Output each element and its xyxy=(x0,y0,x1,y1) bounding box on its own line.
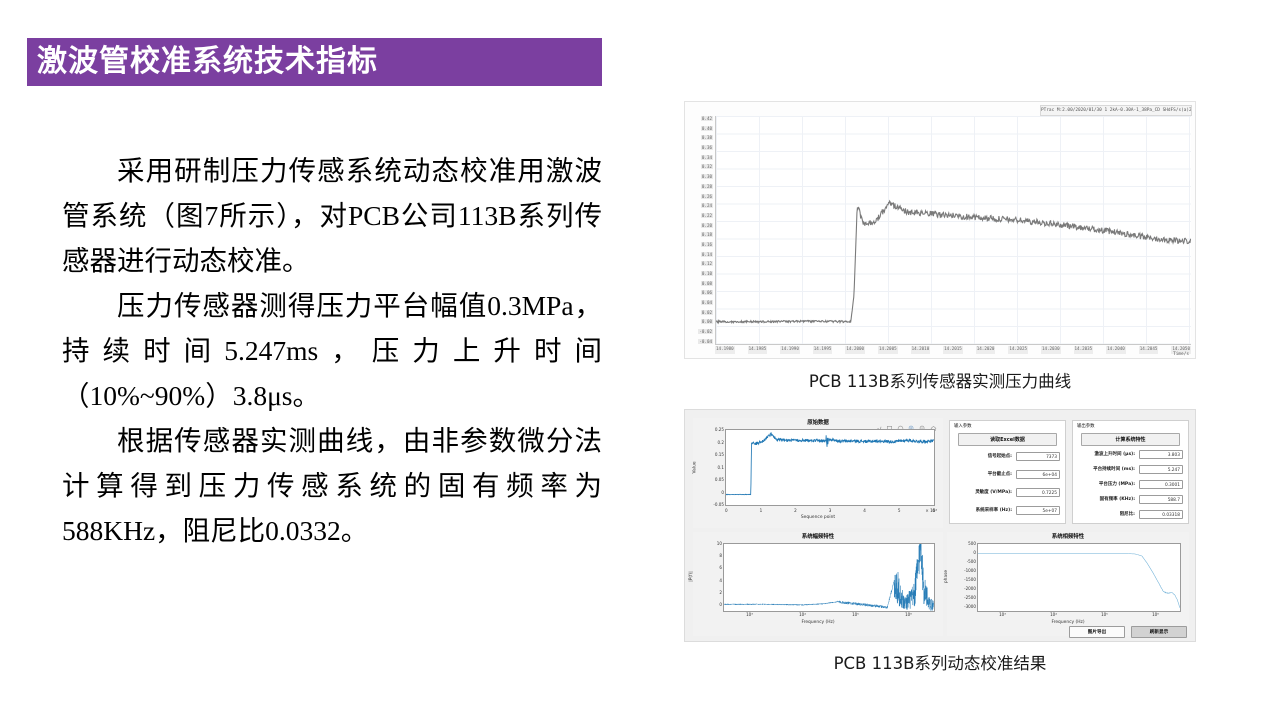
panel-raw-data: 原始数据 Value 0.25 0.2 0. xyxy=(693,418,943,528)
panel-input-parameters: 输入参数 读取Excel数据 信号起始点: 7373 平台截止点: 6e+04 … xyxy=(949,420,1066,524)
phase-plot-area xyxy=(977,543,1181,612)
y-tick: 0.20 xyxy=(701,223,713,228)
y-tick: -2000 xyxy=(964,586,976,591)
phase-title: 系统相频特性 xyxy=(947,533,1189,541)
x-tick: 14.2035 xyxy=(1074,346,1094,354)
y-tick: 2 xyxy=(719,590,722,595)
raw-y-ticks: 0.25 0.2 0.15 0.1 0.05 0 -0.05 xyxy=(703,427,724,507)
home-icon[interactable] xyxy=(930,419,937,426)
x-tick: 14.1990 xyxy=(780,346,800,354)
y-tick: 0.00 xyxy=(701,319,713,324)
y-tick: -0.05 xyxy=(713,502,724,507)
x-tick: 14.1995 xyxy=(813,346,833,354)
field-row-plateau-end: 平台截止点: 6e+04 xyxy=(954,469,1060,479)
y-tick: 500 xyxy=(968,541,976,546)
y-tick: 0.36 xyxy=(701,145,713,150)
x-tick: 14.2000 xyxy=(845,346,865,354)
field-label: 平台压力 (MPa): xyxy=(1077,481,1139,487)
caption-dynamic-calibration-result: PCB 113B系列动态校准结果 xyxy=(684,650,1196,674)
x-tick: 14.2015 xyxy=(943,346,963,354)
y-tick: 0.06 xyxy=(701,290,713,295)
raw-x-exponent: × 10⁴ xyxy=(925,508,937,513)
field-row-damping-ratio: 阻尼比: 0.03318 xyxy=(1077,509,1183,519)
y-tick: -1500 xyxy=(964,577,976,582)
x-tick: 10⁴ xyxy=(1050,612,1057,617)
figure-measured-pressure-curve: PTrac M:2.00/2020/01/30 1 2kA-0.30A-1_38… xyxy=(684,101,1196,359)
y-tick: -2500 xyxy=(964,595,976,600)
y-tick: -1000 xyxy=(964,568,976,573)
x-tick: 10⁴ xyxy=(799,612,806,617)
field-label: 平台截止点: xyxy=(954,471,1016,477)
y-tick: -0.04 xyxy=(698,339,713,344)
panel-magnitude-response: 系统幅频特性 |P(f)| 10 8 6 4 2 0 10³ 10⁴ 10⁵ 1… xyxy=(693,532,943,636)
y-tick: 0.05 xyxy=(715,477,724,482)
x-tick: 10³ xyxy=(999,612,1006,617)
x-tick: 10⁵ xyxy=(852,612,859,617)
x-tick: 3 xyxy=(829,508,832,513)
plateau-end-input[interactable]: 6e+04 xyxy=(1016,470,1060,479)
signal-start-input[interactable]: 7373 xyxy=(1016,452,1060,461)
raw-x-axis-label: Sequence point xyxy=(693,515,943,520)
plateau-duration-output: 5.247 xyxy=(1139,465,1183,474)
field-label: 信号起始点: xyxy=(954,453,1016,459)
x-tick: 10⁶ xyxy=(905,612,912,617)
zoom-out-icon[interactable] xyxy=(919,419,926,426)
field-label: 固有频率 (KHz): xyxy=(1077,496,1139,502)
magnitude-x-ticks: 10³ 10⁴ 10⁵ 10⁶ xyxy=(723,612,935,617)
x-tick: 14.1980 xyxy=(715,346,735,354)
y-tick: 0.26 xyxy=(701,194,713,199)
field-row-rise-time: 激波上升时间 (μs): 3.803 xyxy=(1077,449,1183,459)
compute-system-characteristics-button[interactable]: 计算系统特性 xyxy=(1081,433,1180,446)
y-tick: 0.12 xyxy=(701,261,713,266)
field-label: 激波上升时间 (μs): xyxy=(1077,451,1139,457)
field-row-sensitivity: 灵敏度 (V/MPa): 0.7225 xyxy=(954,487,1060,497)
x-tick: 14.2005 xyxy=(878,346,898,354)
x-tick: 14.1985 xyxy=(748,346,768,354)
raw-y-axis-label: Value xyxy=(693,461,698,473)
magnitude-plot-area xyxy=(723,543,935,612)
phase-y-axis-label: phase xyxy=(944,570,949,583)
export-image-button[interactable]: 图片导出 xyxy=(1069,626,1125,638)
raw-x-ticks: 0 1 2 3 4 5 6 xyxy=(725,508,935,513)
output-panel-legend: 输出参数 xyxy=(1077,423,1095,429)
y-tick: 0.08 xyxy=(701,281,713,286)
rise-time-output: 3.803 xyxy=(1139,450,1183,459)
x-tick: 5 xyxy=(898,508,901,513)
x-tick: 14.2030 xyxy=(1041,346,1061,354)
y-tick: 0.14 xyxy=(701,252,713,257)
raw-data-svg xyxy=(726,430,934,505)
y-tick: 6 xyxy=(719,565,722,570)
field-label: 灵敏度 (V/MPa): xyxy=(954,489,1016,495)
panel-output-parameters: 输出参数 计算系统特性 激波上升时间 (μs): 3.803 平台持续时间 (m… xyxy=(1072,420,1189,524)
y-tick: 0.25 xyxy=(715,427,724,432)
figure-dynamic-calibration-gui: 原始数据 Value 0.25 0.2 0. xyxy=(684,409,1196,642)
phase-x-axis-label: Frequency (Hz) xyxy=(947,620,1189,625)
x-tick: 14.2010 xyxy=(911,346,931,354)
paragraph-2: 压力传感器测得压力平台幅值0.3MPa，持续时间5.247ms，压力上升时间（1… xyxy=(62,283,602,418)
input-panel-legend: 输入参数 xyxy=(954,423,972,429)
y-tick: 0.22 xyxy=(701,213,713,218)
x-tick: 14.2045 xyxy=(1139,346,1159,354)
scope-header-readout: PTrac M:2.00/2020/01/30 1 2kA-0.30A-1_38… xyxy=(1040,105,1192,116)
field-label: 系统采样率 (Hz): xyxy=(954,507,1016,513)
y-tick: -3000 xyxy=(964,604,976,609)
damping-ratio-output: 0.03318 xyxy=(1139,510,1183,519)
y-tick: 8 xyxy=(719,553,722,558)
refresh-display-button[interactable]: 刷新显示 xyxy=(1131,626,1187,638)
field-row-plateau-duration: 平台持续时间 (ms): 5.247 xyxy=(1077,464,1183,474)
x-tick: 14.2040 xyxy=(1106,346,1126,354)
brush-icon[interactable] xyxy=(875,419,882,426)
y-tick: 0.42 xyxy=(701,116,713,121)
paragraph-3: 根据传感器实测曲线，由非参数微分法计算得到压力传感系统的固有频率为588KHz，… xyxy=(62,418,602,553)
y-tick: 0.30 xyxy=(701,174,713,179)
scope-plot-area xyxy=(715,116,1191,345)
magnitude-y-axis-label: |P(f)| xyxy=(689,571,694,582)
y-tick: 0 xyxy=(973,550,976,555)
x-tick: 10⁵ xyxy=(1101,612,1108,617)
x-tick: 14.2025 xyxy=(1008,346,1028,354)
y-tick: 0.10 xyxy=(701,271,713,276)
natural-frequency-output: 588.7 xyxy=(1139,495,1183,504)
y-tick: 0 xyxy=(721,490,724,495)
x-tick: 2 xyxy=(794,508,797,513)
scope-x-axis-title: Time/s xyxy=(1173,352,1189,357)
x-tick: 4 xyxy=(863,508,866,513)
y-tick: 0.28 xyxy=(701,184,713,189)
magnitude-title: 系统幅频特性 xyxy=(693,533,943,541)
plateau-pressure-output: 0.3001 xyxy=(1139,480,1183,489)
magnitude-svg xyxy=(724,544,934,611)
field-row-sampling-rate: 系统采样率 (Hz): 5e+07 xyxy=(954,505,1060,515)
y-tick: 0.02 xyxy=(701,310,713,315)
pan-icon[interactable] xyxy=(897,419,904,426)
page-title: 激波管校准系统技术指标 xyxy=(37,47,378,77)
phase-svg xyxy=(978,544,1180,611)
panel-phase-response: 系统相频特性 phase 500 0 -500 -1000 -1500 -200… xyxy=(947,532,1189,636)
zoom-in-icon[interactable] xyxy=(908,419,915,426)
caption-measured-pressure-curve: PCB 113B系列传感器实测压力曲线 xyxy=(684,368,1196,392)
paragraph-1: 采用研制压力传感系统动态校准用激波管系统（图7所示），对PCB公司113B系列传… xyxy=(62,148,602,283)
y-tick: -500 xyxy=(967,559,976,564)
y-tick: 10 xyxy=(717,541,722,546)
datatip-icon[interactable] xyxy=(886,419,893,426)
field-row-signal-start: 信号起始点: 7373 xyxy=(954,451,1060,461)
field-label: 阻尼比: xyxy=(1077,511,1139,517)
y-tick: 0.15 xyxy=(715,452,724,457)
scope-y-axis-ticks: 0.42 0.40 0.38 0.36 0.34 0.32 0.30 0.28 … xyxy=(687,116,713,344)
y-tick: 0.38 xyxy=(701,135,713,140)
raw-plot-area xyxy=(725,429,935,506)
body-copy: 采用研制压力传感系统动态校准用激波管系统（图7所示），对PCB公司113B系列传… xyxy=(62,148,602,553)
x-tick: 0 xyxy=(725,508,728,513)
y-tick: 0.2 xyxy=(717,440,724,445)
y-tick: 0 xyxy=(719,602,722,607)
y-tick: 0.04 xyxy=(701,300,713,305)
x-tick: 14.2020 xyxy=(976,346,996,354)
magnitude-x-axis-label: Frequency (Hz) xyxy=(693,620,943,625)
sensitivity-input[interactable]: 0.7225 xyxy=(1016,488,1060,497)
field-row-plateau-pressure: 平台压力 (MPa): 0.3001 xyxy=(1077,479,1183,489)
y-tick: 4 xyxy=(719,578,722,583)
slide-title-banner: 激波管校准系统技术指标 xyxy=(27,38,602,86)
pressure-trace-svg xyxy=(716,116,1191,344)
phase-x-ticks: 10³ 10⁴ 10⁵ 10⁶ xyxy=(977,612,1181,617)
x-tick: 1 xyxy=(760,508,763,513)
sampling-rate-input[interactable]: 5e+07 xyxy=(1016,506,1060,515)
gui-action-buttons: 图片导出 刷新显示 xyxy=(1069,626,1187,638)
y-tick: 0.24 xyxy=(701,203,713,208)
x-tick: 10³ xyxy=(746,612,753,617)
magnitude-y-ticks: 10 8 6 4 2 0 xyxy=(699,541,722,607)
y-tick: 0.40 xyxy=(701,126,713,131)
y-tick: 0.1 xyxy=(717,465,724,470)
phase-y-ticks: 500 0 -500 -1000 -1500 -2000 -2500 -3000 xyxy=(953,541,976,609)
y-tick: 0.34 xyxy=(701,155,713,160)
x-tick: 10⁶ xyxy=(1152,612,1159,617)
field-label: 平台持续时间 (ms): xyxy=(1077,466,1139,472)
y-tick: 0.16 xyxy=(701,242,713,247)
y-tick: 0.18 xyxy=(701,232,713,237)
y-tick: 0.32 xyxy=(701,164,713,169)
scope-x-axis-ticks: 14.1980 14.1985 14.1990 14.1995 14.2000 … xyxy=(715,346,1191,354)
read-excel-button[interactable]: 读取Excel数据 xyxy=(958,433,1057,446)
y-tick: -0.02 xyxy=(698,329,713,334)
field-row-natural-frequency: 固有频率 (KHz): 588.7 xyxy=(1077,494,1183,504)
plot-toolbar[interactable] xyxy=(875,419,937,426)
